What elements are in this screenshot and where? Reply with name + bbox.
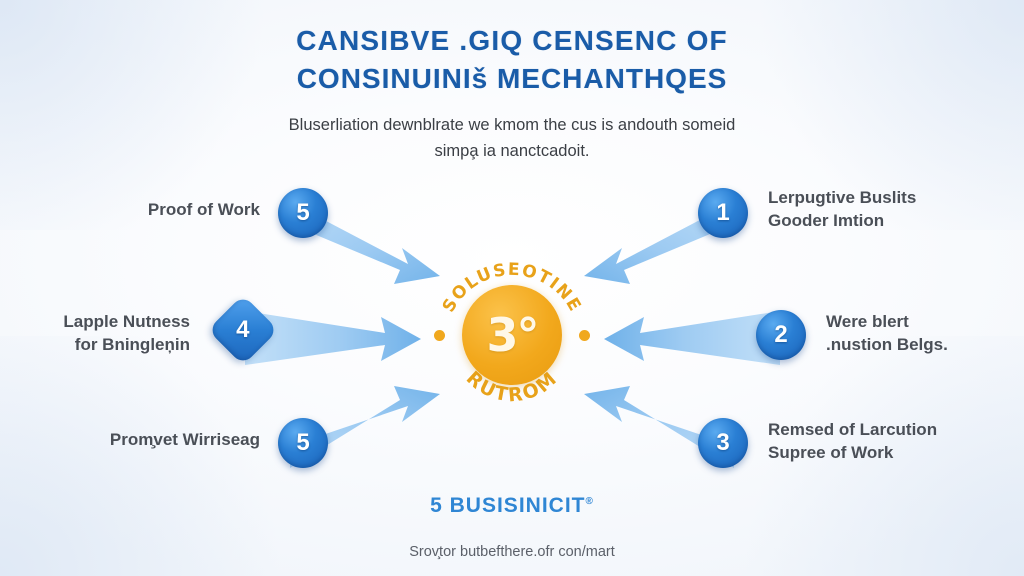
page-title-line-2: CONSINUINIš MECHANTHQES [0,60,1024,98]
node-right-2-line-1: Were blert [826,310,1024,333]
node-right-1-line-2: Gooder Imtion [768,209,1018,232]
hub-center-glyph: 3° [486,312,537,358]
node-label-left-1: Proof of Work [40,198,260,221]
page-title-line-1: CANSIBVE .GIQ CENSENC OF [0,22,1024,60]
node-label-right-2: Were blert .nustion Belgs. [826,310,1024,356]
node-badge-right-3[interactable]: 3 [698,418,748,468]
subtitle-line-2: simpa̧ ia nanctcadoit. [0,138,1024,164]
brand-logo: 5 BUSISINICIT® [0,494,1024,518]
node-badge-left-2-number: 4 [236,316,249,344]
node-right-2-line-2: .nustion Belgs. [826,333,1024,356]
node-badge-right-1[interactable]: 1 [698,188,748,238]
node-left-2-line-1: Lapple Nutness [20,310,190,333]
node-label-left-2: Lapple Nutness for Bningleņin [20,310,190,356]
footer-source-note: Srov̧tor butbefthere.ofr con/mart [0,544,1024,560]
node-badge-left-1[interactable]: 5 [278,188,328,238]
hub-accent-dot-left [434,330,445,341]
center-hub[interactable]: SOLUSEOTINE RUTROM 3° [432,255,592,415]
node-badge-right-2[interactable]: 2 [756,310,806,360]
node-label-right-1: Lerpugtive Buslits Gooder Imtion [768,186,1018,232]
subtitle-line-1: Bluserliation dewnblrate we kmom the cus… [0,112,1024,138]
footer: 5 BUSISINICIT® Srov̧tor butbefthere.ofr … [0,494,1024,560]
node-badge-left-3-number: 5 [296,429,309,457]
header: CANSIBVE .GIQ CENSENC OF CONSINUINIš MEC… [0,22,1024,164]
node-badge-right-1-number: 1 [716,199,729,227]
node-left-3-line-1: Prom̧vet Wirriseag [40,428,260,451]
node-label-left-3: Prom̧vet Wirriseag [40,428,260,451]
brand-name: 5 BUSISINICIT [430,494,585,517]
node-label-right-3: Remsed of Larcution Supree of Work [768,418,1024,464]
node-right-3-line-2: Supree of Work [768,441,1024,464]
node-right-1-line-1: Lerpugtive Buslits [768,186,1018,209]
page-subtitle: Bluserliation dewnblrate we kmom the cus… [0,112,1024,164]
arrow-ribbon-left-middle [245,305,425,377]
infographic-canvas: CANSIBVE .GIQ CENSENC OF CONSINUINIš MEC… [0,0,1024,576]
hub-core-circle: 3° [462,285,562,385]
hub-accent-dot-right [579,330,590,341]
node-left-1-line-1: Proof of Work [40,198,260,221]
node-badge-right-2-number: 2 [774,321,787,349]
node-right-3-line-1: Remsed of Larcution [768,418,1024,441]
node-left-2-line-2: for Bningleņin [20,333,190,356]
arrow-ribbon-right-middle [600,305,780,377]
node-badge-right-3-number: 3 [716,429,729,457]
node-badge-left-3[interactable]: 5 [278,418,328,468]
registered-mark-icon: ® [585,496,593,507]
node-badge-left-1-number: 5 [296,199,309,227]
